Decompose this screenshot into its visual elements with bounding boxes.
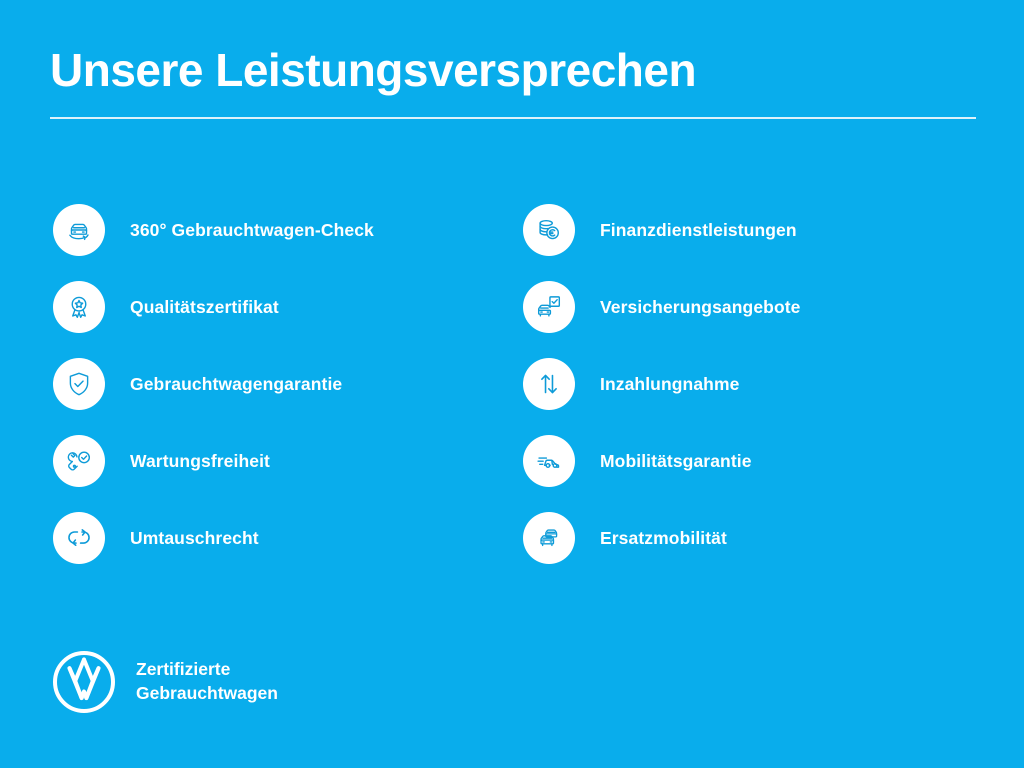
promise-label: Wartungsfreiheit: [130, 451, 270, 472]
promise-label: Versicherungsangebote: [600, 297, 801, 318]
header: Unsere Leistungsversprechen: [50, 46, 976, 119]
promise-column-left: 360° Gebrauchtwagen-Check Qualitätszerti…: [53, 204, 523, 589]
shield-check-icon: [53, 358, 105, 410]
page-title: Unsere Leistungsversprechen: [50, 46, 976, 94]
promise-item-mobilitaetsgarantie[interactable]: Mobilitätsgarantie: [523, 435, 943, 487]
exchange-arrows-icon: [53, 512, 105, 564]
promise-label: Umtauschrecht: [130, 528, 259, 549]
promise-label: Ersatzmobilität: [600, 528, 727, 549]
promise-item-versicherungsangebote[interactable]: Versicherungsangebote: [523, 281, 943, 333]
promise-column-right: Finanzdienstleistungen Versicherungsange…: [523, 204, 943, 589]
volkswagen-logo: [52, 650, 116, 714]
title-divider: [50, 117, 976, 119]
promise-item-ersatzmobilitaet[interactable]: Ersatzmobilität: [523, 512, 943, 564]
coins-euro-icon: [523, 204, 575, 256]
brand-text-line2: Gebrauchtwagen: [136, 682, 278, 706]
brand-text-line1: Zertifizierte: [136, 658, 278, 682]
car-360-check-icon: [53, 204, 105, 256]
promise-item-wartungsfreiheit[interactable]: Wartungsfreiheit: [53, 435, 523, 487]
promise-item-qualitaetszertifikat[interactable]: Qualitätszertifikat: [53, 281, 523, 333]
brand-text: Zertifizierte Gebrauchtwagen: [136, 658, 278, 705]
promise-label: Finanzdienstleistungen: [600, 220, 797, 241]
promise-item-finanzdienstleistungen[interactable]: Finanzdienstleistungen: [523, 204, 943, 256]
award-rosette-icon: [53, 281, 105, 333]
promise-columns: 360° Gebrauchtwagen-Check Qualitätszerti…: [0, 204, 1024, 589]
promise-label: Gebrauchtwagengarantie: [130, 374, 342, 395]
car-motion-icon: [523, 435, 575, 487]
promise-item-umtauschrecht[interactable]: Umtauschrecht: [53, 512, 523, 564]
promise-label: Inzahlungnahme: [600, 374, 739, 395]
car-document-check-icon: [523, 281, 575, 333]
two-cars-icon: [523, 512, 575, 564]
promise-item-360-check[interactable]: 360° Gebrauchtwagen-Check: [53, 204, 523, 256]
wrench-check-icon: [53, 435, 105, 487]
promise-label: Mobilitätsgarantie: [600, 451, 752, 472]
promise-item-inzahlungnahme[interactable]: Inzahlungnahme: [523, 358, 943, 410]
promise-label: 360° Gebrauchtwagen-Check: [130, 220, 374, 241]
promise-item-gebrauchtwagengarantie[interactable]: Gebrauchtwagengarantie: [53, 358, 523, 410]
up-down-arrows-icon: [523, 358, 575, 410]
promises-slide: Unsere Leistungsversprechen: [0, 0, 1024, 768]
promise-label: Qualitätszertifikat: [130, 297, 279, 318]
brand-footer: Zertifizierte Gebrauchtwagen: [52, 650, 278, 714]
